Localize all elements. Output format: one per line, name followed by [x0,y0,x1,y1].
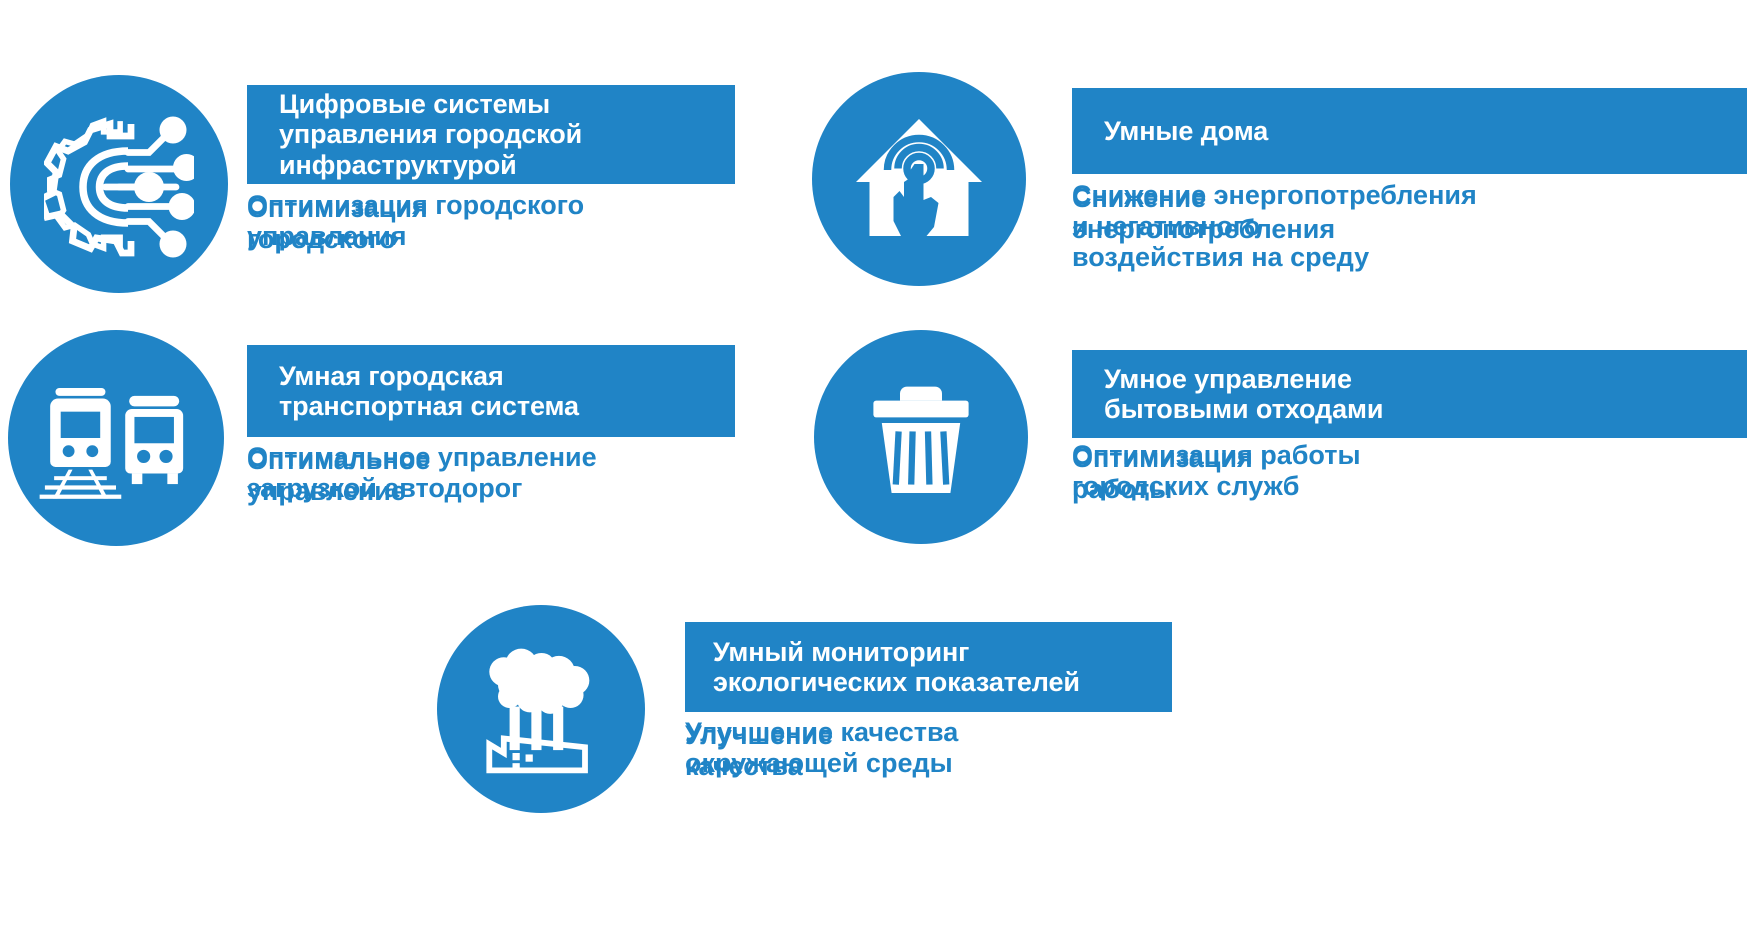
item-title: Умные дома [1104,116,1268,146]
item-title: Умное управление бытовыми отходами [1104,364,1383,424]
gear-circuit-icon [44,109,194,259]
smart-home-touch-icon [844,104,994,254]
item-subtitle: Оптимизация работы городских служб [1072,440,1712,502]
title-bar: Умный мониторинг экологических показател… [685,622,1172,712]
train-bus-icon-medallion [8,330,224,546]
title-bar: Умные дома [1072,88,1747,174]
factory-smoke-icon-medallion [437,605,645,813]
title-bar: Умная городская транспортная система [247,345,735,437]
smart-home-touch-icon-medallion [812,72,1026,286]
item-subtitle: Улучшение качества окружающей среды [685,717,1165,779]
item-subtitle: Оптимизация городского управления [247,190,717,252]
trash-bin-icon-medallion [814,330,1028,544]
item-title: Умный мониторинг экологических показател… [713,637,1080,697]
item-subtitle: Оптимальное управление загрузкой автодор… [247,442,717,504]
item-subtitle: Снижение энергопотребления и негативного… [1072,180,1742,273]
infographic-canvas: Оптимизация городского Цифровые системы … [0,0,1747,931]
factory-smoke-icon [469,637,614,782]
title-bar: Умное управление бытовыми отходами [1072,350,1747,438]
item-title: Цифровые системы управления городской ин… [279,89,582,180]
train-bus-icon [37,359,195,517]
trash-bin-icon [851,367,991,507]
title-bar: Цифровые системы управления городской ин… [247,85,735,184]
gear-circuit-icon-medallion [10,75,228,293]
item-title: Умная городская транспортная система [279,361,579,421]
